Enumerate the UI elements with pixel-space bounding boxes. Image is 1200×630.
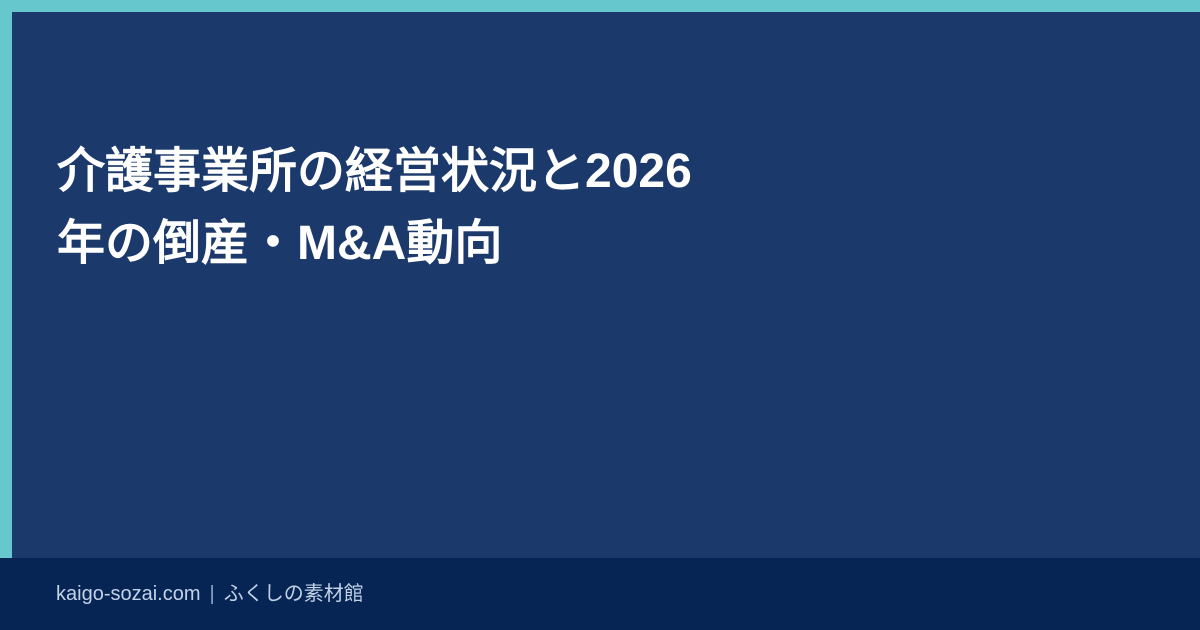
footer-bar: kaigo-sozai.com | ふくしの素材館 <box>0 558 1200 630</box>
page-title: 介護事業所の経営状況と2026 年の倒産・M&A動向 <box>57 136 857 280</box>
og-image-card: 介護事業所の経営状況と2026 年の倒産・M&A動向 kaigo-sozai.c… <box>0 0 1200 630</box>
footer-content: kaigo-sozai.com | ふくしの素材館 <box>56 558 364 630</box>
footer-site-name: ふくしの素材館 <box>224 584 364 604</box>
page-title-line-1: 介護事業所の経営状況と2026 <box>57 136 857 208</box>
card-body-panel: 介護事業所の経営状況と2026 年の倒産・M&A動向 <box>12 12 1200 630</box>
page-title-line-2: 年の倒産・M&A動向 <box>57 208 857 280</box>
footer-site-domain: kaigo-sozai.com <box>56 584 201 604</box>
footer-separator: | <box>201 584 224 604</box>
